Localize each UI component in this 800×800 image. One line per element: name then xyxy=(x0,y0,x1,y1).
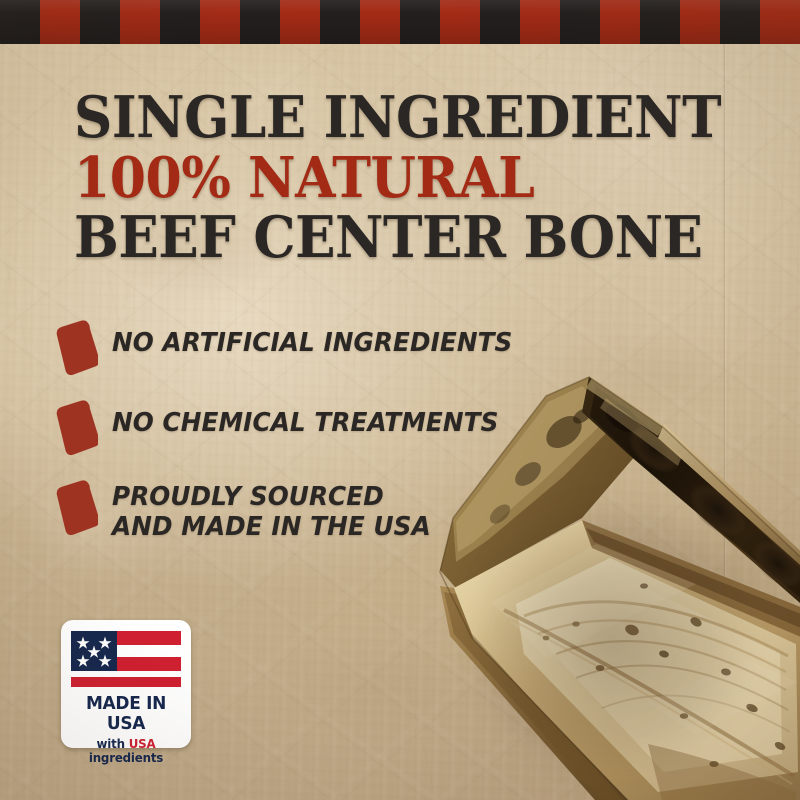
badge-line-2: with USA ingredients xyxy=(73,737,180,765)
usa-flag-icon xyxy=(71,631,181,687)
stripe-segment xyxy=(480,0,520,44)
badge-suffix: ingredients xyxy=(89,751,163,765)
feature-label: NO ARTIFICIAL INGREDIENTS xyxy=(112,318,512,358)
headline-line-2: 100% NATURAL xyxy=(74,148,669,208)
stripe-segment xyxy=(240,0,280,44)
headline-line-3: BEEF CENTER BONE xyxy=(74,208,669,268)
price-tag-icon xyxy=(52,478,98,536)
stripe-segment xyxy=(0,0,40,44)
stripe-segment xyxy=(320,0,360,44)
price-tag-icon xyxy=(52,318,98,376)
stripe-segment xyxy=(360,0,400,44)
made-in-usa-badge: MADE IN USA with USA ingredients xyxy=(61,620,191,748)
price-tag-icon xyxy=(52,398,98,456)
bone-drop-shadow xyxy=(414,408,794,800)
stripe-segment xyxy=(760,0,800,44)
badge-prefix: with xyxy=(97,737,129,751)
feature-item: NO ARTIFICIAL INGREDIENTS xyxy=(52,318,572,376)
stripe-segment xyxy=(400,0,440,44)
badge-usa-highlight: USA xyxy=(129,737,156,751)
stripe-segment xyxy=(40,0,80,44)
stripe-segment xyxy=(120,0,160,44)
stripe-segment xyxy=(680,0,720,44)
stripe-segment xyxy=(440,0,480,44)
beef-center-bone-photo xyxy=(396,372,800,800)
stripe-segment xyxy=(560,0,600,44)
feature-label: PROUDLY SOURCED AND MADE IN THE USA xyxy=(112,478,431,542)
stripe-segment xyxy=(280,0,320,44)
stripe-segment xyxy=(640,0,680,44)
badge-line-1: MADE IN USA xyxy=(73,694,180,734)
headline-block: SINGLE INGREDIENT 100% NATURAL BEEF CENT… xyxy=(74,88,714,268)
stripe-segment xyxy=(600,0,640,44)
stripe-segment xyxy=(160,0,200,44)
product-marketing-image: SINGLE INGREDIENT 100% NATURAL BEEF CENT… xyxy=(0,0,800,800)
headline-line-1: SINGLE INGREDIENT xyxy=(74,88,669,148)
stripe-segment xyxy=(200,0,240,44)
stripe-segment xyxy=(720,0,760,44)
top-stripe-band xyxy=(0,0,800,44)
stripe-segment xyxy=(80,0,120,44)
stripe-segment xyxy=(520,0,560,44)
